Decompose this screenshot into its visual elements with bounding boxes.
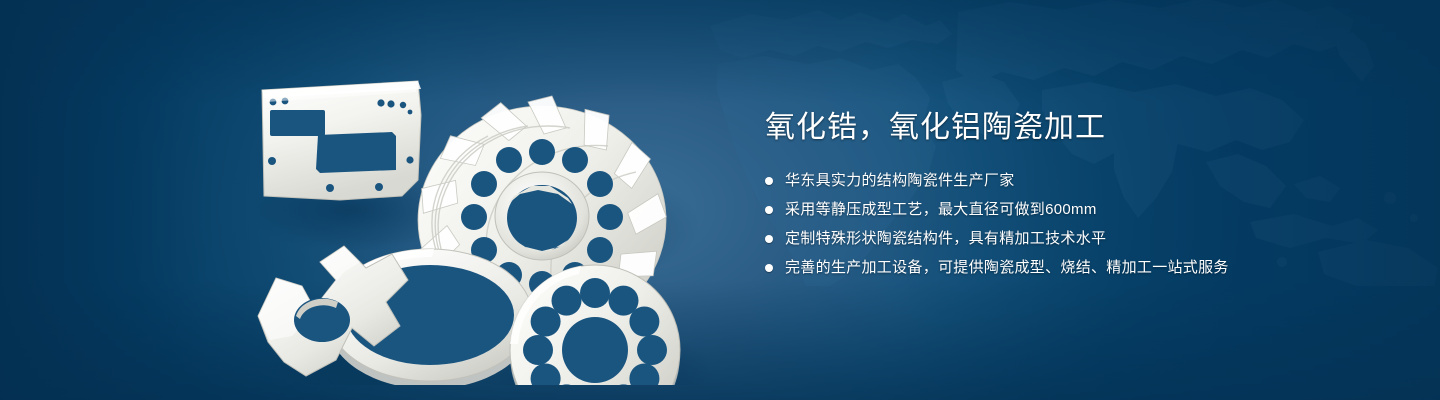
list-item: 完善的生产加工设备，可提供陶瓷成型、烧结、精加工一站式服务 bbox=[765, 257, 1385, 279]
list-item: 定制特殊形状陶瓷结构件，具有精加工技术水平 bbox=[765, 228, 1385, 250]
bullet-dot-icon bbox=[765, 264, 773, 272]
page-title: 氧化锆，氧化铝陶瓷加工 bbox=[765, 108, 1385, 148]
list-item-label: 定制特殊形状陶瓷结构件，具有精加工技术水平 bbox=[785, 228, 1106, 250]
list-item-label: 完善的生产加工设备，可提供陶瓷成型、烧结、精加工一站式服务 bbox=[785, 257, 1229, 279]
list-item-label: 华东具实力的结构陶瓷件生产厂家 bbox=[785, 170, 1015, 192]
banner-copy: 氧化锆，氧化铝陶瓷加工 华东具实力的结构陶瓷件生产厂家 采用等静压成型工艺，最大… bbox=[765, 108, 1385, 279]
bullet-dot-icon bbox=[765, 177, 773, 185]
ceramic-parts-photo bbox=[240, 40, 710, 385]
hero-banner: 氧化锆，氧化铝陶瓷加工 华东具实力的结构陶瓷件生产厂家 采用等静压成型工艺，最大… bbox=[0, 0, 1440, 400]
bullet-dot-icon bbox=[765, 235, 773, 243]
ceramic-plate-part bbox=[262, 81, 421, 200]
feature-list: 华东具实力的结构陶瓷件生产厂家 采用等静压成型工艺，最大直径可做到600mm 定… bbox=[765, 170, 1385, 279]
list-item: 采用等静压成型工艺，最大直径可做到600mm bbox=[765, 199, 1385, 221]
bullet-dot-icon bbox=[765, 206, 773, 214]
list-item: 华东具实力的结构陶瓷件生产厂家 bbox=[765, 170, 1385, 192]
list-item-label: 采用等静压成型工艺，最大直径可做到600mm bbox=[785, 199, 1097, 221]
